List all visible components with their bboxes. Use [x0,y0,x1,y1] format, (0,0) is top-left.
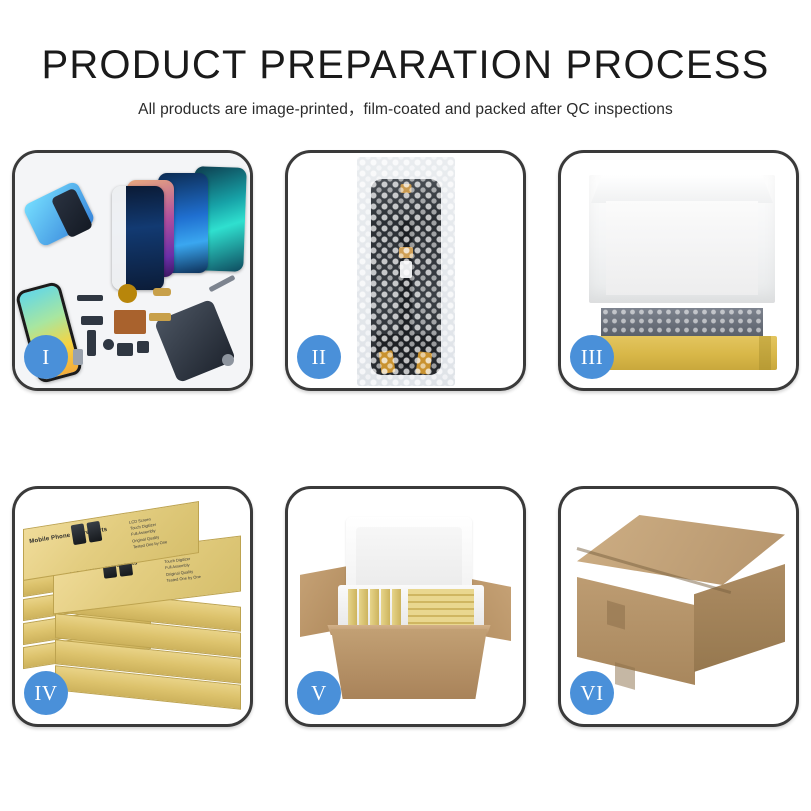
screws-icon [222,354,234,366]
bubble-wrap-fill-icon [601,308,763,338]
phone-screen-assembly-icon [112,186,164,290]
step-badge-4: IV [24,671,68,715]
process-step-panel-5[interactable]: V [285,486,526,727]
gold-box-base-icon [587,336,777,370]
vibrator-part-icon [137,341,149,353]
gold-box-right-end [759,336,771,370]
process-step-panel-4[interactable]: Mobile Phone Spare Parts LCD Screen Touc… [12,486,253,727]
foam-lid-inner-panel [356,527,462,589]
gold-boxes-inside-icon [348,589,474,627]
page-title: PRODUCT PREPARATION PROCESS [0,44,811,86]
step-badge-3: III [570,335,614,379]
carton-tape-upper-icon [607,600,625,629]
connector-part-icon [153,288,171,296]
bubble-bag-icon [357,157,455,386]
step-badge-2: II [297,335,341,379]
sim-tray-part-icon [73,349,83,365]
process-step-panel-2[interactable]: II [285,150,526,391]
button-part-icon [103,339,114,350]
battery-connector-part-icon [117,343,133,356]
white-lid-inner-panel [606,201,758,295]
bubble-wrap-texture [357,157,455,386]
process-steps-grid: I II [11,150,801,727]
box-screen-icon [71,523,87,545]
logic-board-part-icon [114,310,146,334]
process-step-panel-6[interactable]: VI [558,486,799,727]
process-step-panel-1[interactable]: I [12,150,253,391]
step-badge-6: VI [570,671,614,715]
step-badge-5: V [297,671,341,715]
flex-cable-part-icon [77,295,103,301]
gold-boxes-horizontal-icon [408,589,474,627]
step-badge-1: I [24,335,68,379]
gold-box-vertical-icon [359,589,368,627]
gold-box-vertical-icon [381,589,390,627]
process-step-panel-3[interactable]: III [558,150,799,391]
bracket-part-icon [81,316,103,325]
gold-box-vertical-icon [392,589,401,627]
gold-box-vertical-icon [348,589,357,627]
speaker-part-icon [118,284,137,303]
white-lid-top-edge [591,175,773,203]
carton-front-face-icon [577,577,695,685]
carton-tape-lower-icon [615,662,635,690]
box-spec-list-1: LCD Screen Touch Digitizer Full Assembly… [129,514,168,550]
carton-body-icon [326,629,492,699]
camera-part-icon [87,330,96,356]
antenna-flex-part-icon [149,313,171,321]
header: PRODUCT PREPARATION PROCESS All products… [0,0,811,119]
page-subtitle: All products are image-printed，film-coat… [0,97,811,119]
gold-box-vertical-icon [370,589,379,627]
product-preparation-process-page: PRODUCT PREPARATION PROCESS All products… [0,0,811,811]
